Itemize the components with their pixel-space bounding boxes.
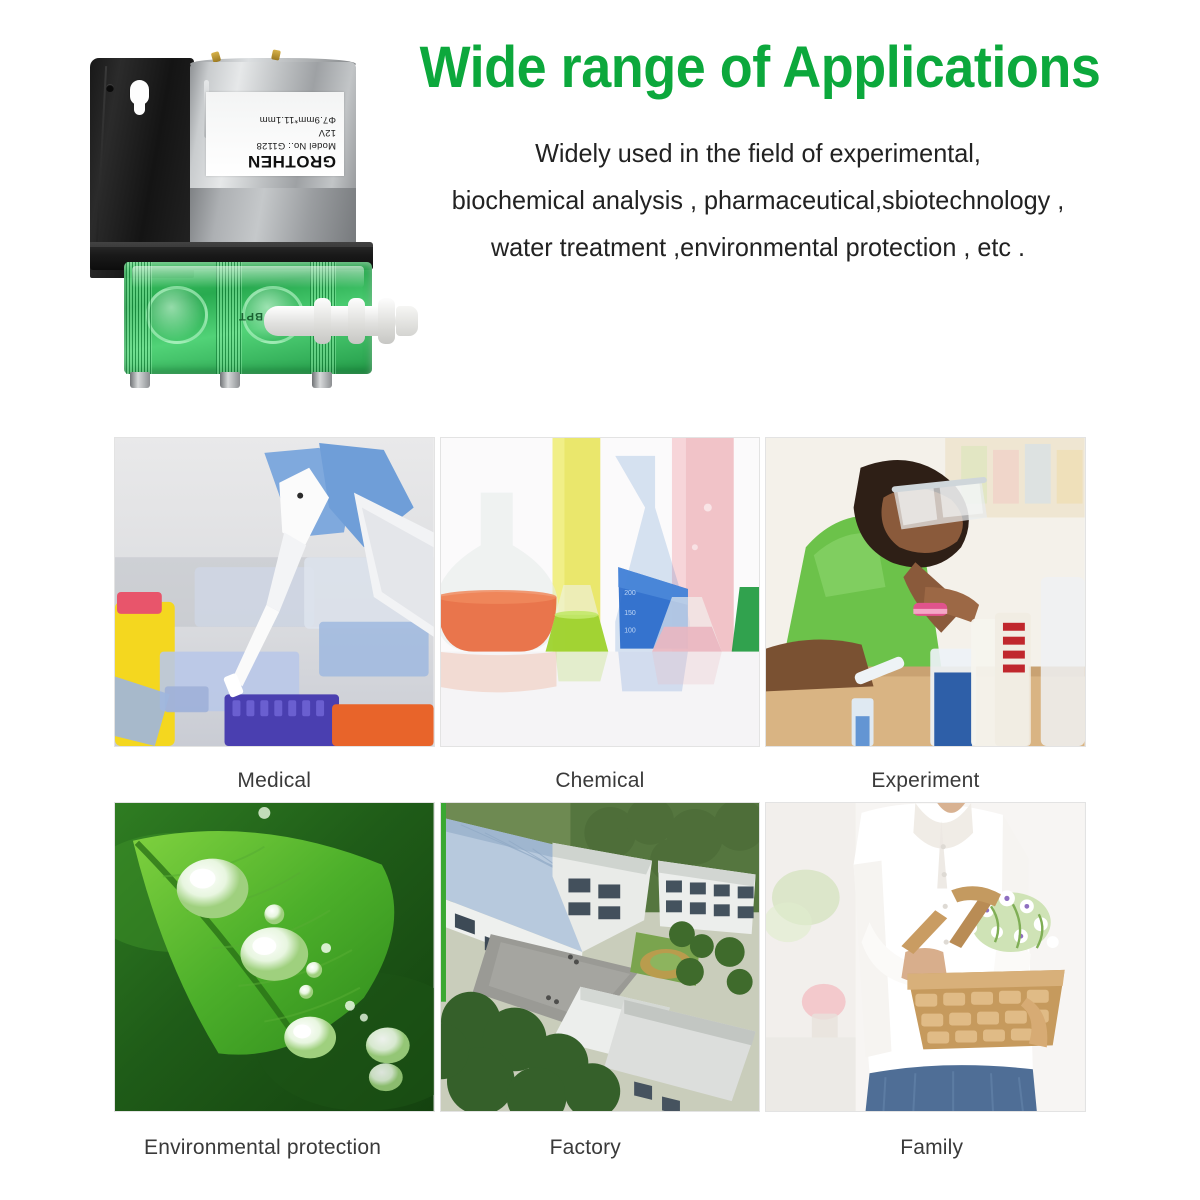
hero-section: Wide range of Applications Widely used i… — [0, 0, 1200, 420]
page-description: Widely used in the field of experimental… — [360, 130, 1155, 271]
tubing-marking: BPT — [238, 310, 263, 322]
tubing-barb — [314, 298, 331, 344]
tube-size: Φ7.9mm*11.1mm — [214, 113, 336, 126]
gallery-item-family: Family — [765, 802, 1086, 1160]
page-title: Wide range of Applications — [388, 36, 1132, 100]
motor-spec-label: GROTHEN Model No.: G1128 12V Φ7.9mm*11.1… — [206, 92, 344, 176]
caption-family: Family — [765, 1112, 1086, 1160]
bracket-screw-hole — [106, 84, 114, 92]
pump-head-highlight — [132, 266, 364, 288]
pump-foot — [220, 372, 240, 388]
gallery-item-experiment: Experiment — [765, 437, 1086, 793]
pump-rotor-cavity — [146, 286, 208, 344]
svg-text:200: 200 — [624, 590, 636, 597]
application-page: Wide range of Applications Widely used i… — [0, 0, 1200, 1200]
caption-medical: Medical — [114, 747, 435, 793]
brand-name: GROTHEN — [214, 152, 336, 171]
photo-experiment — [765, 437, 1086, 747]
photo-chemical: 200150100 — [440, 437, 761, 747]
pump-foot — [312, 372, 332, 388]
product-image-peristaltic-pump: GROTHEN Model No.: G1128 12V Φ7.9mm*11.1… — [86, 34, 386, 404]
caption-experiment: Experiment — [765, 747, 1086, 793]
description-line-3: water treatment ,environmental protectio… — [360, 224, 1155, 271]
gallery-item-medical: Medical — [114, 437, 435, 793]
photo-family — [765, 802, 1086, 1112]
gallery-item-environmental-protection: Environmental protection — [114, 802, 435, 1160]
caption-factory: Factory — [440, 1112, 761, 1160]
tubing-connector-tip — [396, 306, 418, 336]
description-line-1: Widely used in the field of experimental… — [360, 130, 1155, 177]
caption-environmental-protection: Environmental protection — [114, 1112, 435, 1160]
tubing-barb — [378, 298, 395, 344]
gallery-item-chemical: 200150100 — [440, 437, 761, 793]
bracket-keyhole-slot — [130, 80, 149, 105]
gallery-row: Environmental protection — [114, 802, 1086, 1160]
gallery-row: Medical — [114, 437, 1086, 793]
application-gallery: Medical — [114, 437, 1086, 1160]
caption-chemical: Chemical — [440, 747, 761, 793]
pump-foot — [130, 372, 150, 388]
photo-medical — [114, 437, 435, 747]
tubing-barb — [348, 298, 365, 344]
voltage-rating: 12V — [214, 126, 336, 139]
gallery-item-factory: Factory — [440, 802, 761, 1160]
svg-text:150: 150 — [624, 610, 636, 617]
photo-environmental-protection — [114, 802, 435, 1112]
model-number: Model No.: G1128 — [214, 139, 336, 152]
svg-text:100: 100 — [624, 628, 636, 635]
photo-factory — [440, 802, 761, 1112]
description-line-2: biochemical analysis , pharmaceutical,sb… — [360, 177, 1155, 224]
